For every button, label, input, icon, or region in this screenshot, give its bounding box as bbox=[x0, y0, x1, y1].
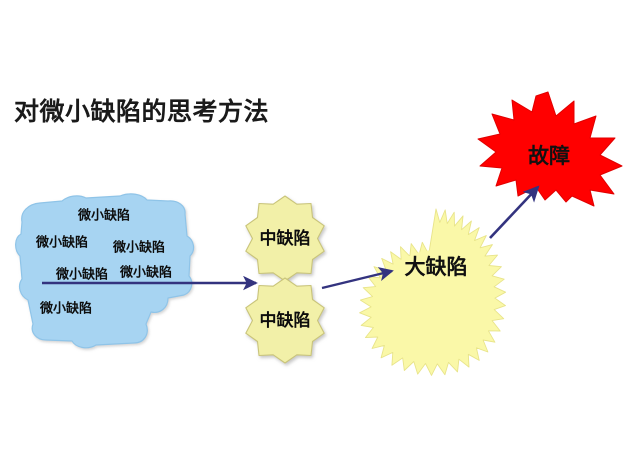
medium-defect-bottom-label: 中缺陷 bbox=[260, 310, 311, 331]
tiny-defect-label-3: 微小缺陷 bbox=[112, 240, 165, 256]
arrow-large-to-failure bbox=[490, 187, 538, 238]
large-defect-sunburst[interactable]: 大缺陷 bbox=[360, 209, 506, 375]
tiny-defect-label-2: 微小缺陷 bbox=[35, 235, 88, 251]
defect-escalation-diagram: 微小缺陷 微小缺陷 微小缺陷 微小缺陷 微小缺陷 微小缺陷 中缺陷 中缺陷 大缺… bbox=[0, 0, 640, 450]
tiny-defect-label-4: 微小缺陷 bbox=[55, 267, 108, 283]
tiny-defect-label-1: 微小缺陷 bbox=[77, 208, 130, 224]
diagram-canvas: 对微小缺陷的思考方法 微小缺陷 微小缺陷 微小缺陷 微小缺陷 微小缺陷 微小缺陷 bbox=[0, 0, 640, 450]
tiny-defect-label-5: 微小缺陷 bbox=[119, 265, 172, 281]
failure-label: 故障 bbox=[528, 144, 570, 168]
medium-defect-star-bottom[interactable]: 中缺陷 bbox=[246, 278, 324, 363]
medium-defect-top-label: 中缺陷 bbox=[260, 228, 311, 249]
medium-defect-star-top[interactable]: 中缺陷 bbox=[246, 196, 324, 281]
tiny-defect-label-6: 微小缺陷 bbox=[39, 301, 92, 317]
failure-burst[interactable]: 故障 bbox=[478, 92, 622, 206]
tiny-defects-cloud[interactable]: 微小缺陷 微小缺陷 微小缺陷 微小缺陷 微小缺陷 微小缺陷 bbox=[16, 194, 194, 348]
large-defect-label: 大缺陷 bbox=[405, 255, 468, 279]
